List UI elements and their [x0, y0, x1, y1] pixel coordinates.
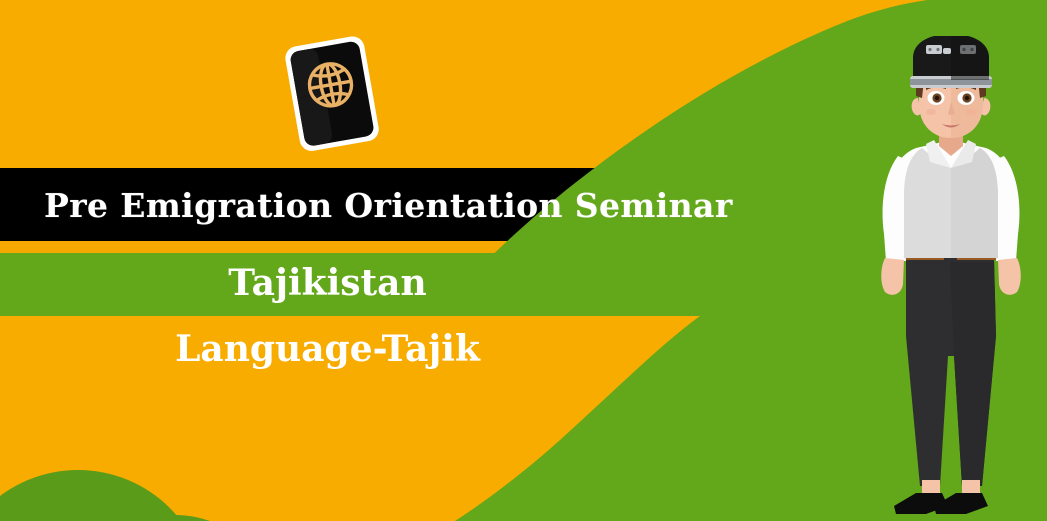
eye-left-pupil — [935, 96, 939, 100]
language-label: Language-Tajik — [0, 327, 655, 371]
cap-shadow — [951, 36, 989, 80]
hand-right — [998, 258, 1021, 295]
hand-left — [881, 258, 904, 295]
cheek-right — [966, 109, 976, 115]
passport-icon — [276, 28, 396, 158]
ankle-left — [922, 480, 940, 494]
ankle-right — [962, 480, 980, 494]
poster-canvas: Pre Emigration Orientation Seminar Tajik… — [0, 0, 1047, 521]
cheek-left — [926, 109, 936, 115]
eye-right-pupil — [965, 96, 969, 100]
trousers-shadow — [950, 262, 996, 486]
country-label: Tajikistan — [0, 261, 655, 305]
tajik-man-illustration — [856, 36, 1047, 521]
page-title: Pre Emigration Orientation Seminar — [44, 186, 664, 226]
